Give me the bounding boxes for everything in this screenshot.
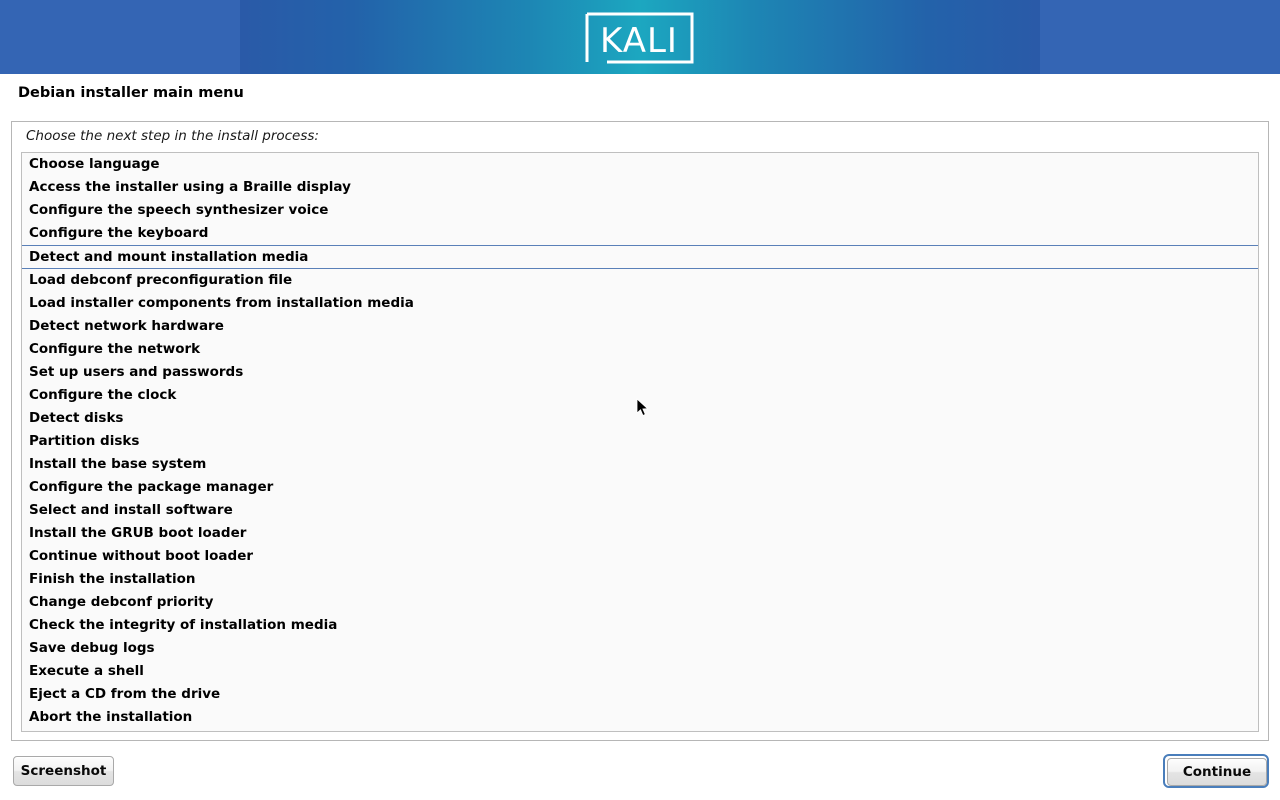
list-item[interactable]: Set up users and passwords xyxy=(22,361,1258,384)
list-item[interactable]: Configure the network xyxy=(22,338,1258,361)
list-item[interactable]: Finish the installation xyxy=(22,568,1258,591)
list-item[interactable]: Detect and mount installation media xyxy=(22,245,1258,269)
kali-banner: KALI xyxy=(0,0,1280,74)
list-item[interactable]: Choose language xyxy=(22,153,1258,176)
list-item[interactable]: Execute a shell xyxy=(22,660,1258,683)
list-item[interactable]: Configure the package manager xyxy=(22,476,1258,499)
install-step-list[interactable]: Choose languageAccess the installer usin… xyxy=(21,152,1259,732)
list-item[interactable]: Check the integrity of installation medi… xyxy=(22,614,1258,637)
list-item[interactable]: Select and install software xyxy=(22,499,1258,522)
list-item[interactable]: Access the installer using a Braille dis… xyxy=(22,176,1258,199)
list-item[interactable]: Detect disks xyxy=(22,407,1258,430)
list-item[interactable]: Configure the clock xyxy=(22,384,1258,407)
svg-text:KALI: KALI xyxy=(600,21,678,61)
list-item[interactable]: Eject a CD from the drive xyxy=(22,683,1258,706)
main-panel: Choose the next step in the install proc… xyxy=(11,121,1269,741)
continue-button-focus-ring: Continue xyxy=(1163,754,1269,788)
list-item[interactable]: Detect network hardware xyxy=(22,315,1258,338)
list-item[interactable]: Configure the speech synthesizer voice xyxy=(22,199,1258,222)
screenshot-button[interactable]: Screenshot xyxy=(13,756,114,786)
kali-logo: KALI xyxy=(583,10,696,66)
installer-screen: KALI Debian installer main menu Choose t… xyxy=(0,0,1280,800)
list-item[interactable]: Continue without boot loader xyxy=(22,545,1258,568)
list-item[interactable]: Change debconf priority xyxy=(22,591,1258,614)
panel-prompt: Choose the next step in the install proc… xyxy=(26,128,319,144)
list-item[interactable]: Install the GRUB boot loader xyxy=(22,522,1258,545)
list-item[interactable]: Save debug logs xyxy=(22,637,1258,660)
list-item[interactable]: Install the base system xyxy=(22,453,1258,476)
continue-button[interactable]: Continue xyxy=(1167,758,1267,786)
page-title: Debian installer main menu xyxy=(18,85,244,101)
list-item[interactable]: Partition disks xyxy=(22,430,1258,453)
list-item[interactable]: Configure the keyboard xyxy=(22,222,1258,245)
list-item[interactable]: Load installer components from installat… xyxy=(22,292,1258,315)
list-item[interactable]: Abort the installation xyxy=(22,706,1258,729)
list-item[interactable]: Load debconf preconfiguration file xyxy=(22,269,1258,292)
